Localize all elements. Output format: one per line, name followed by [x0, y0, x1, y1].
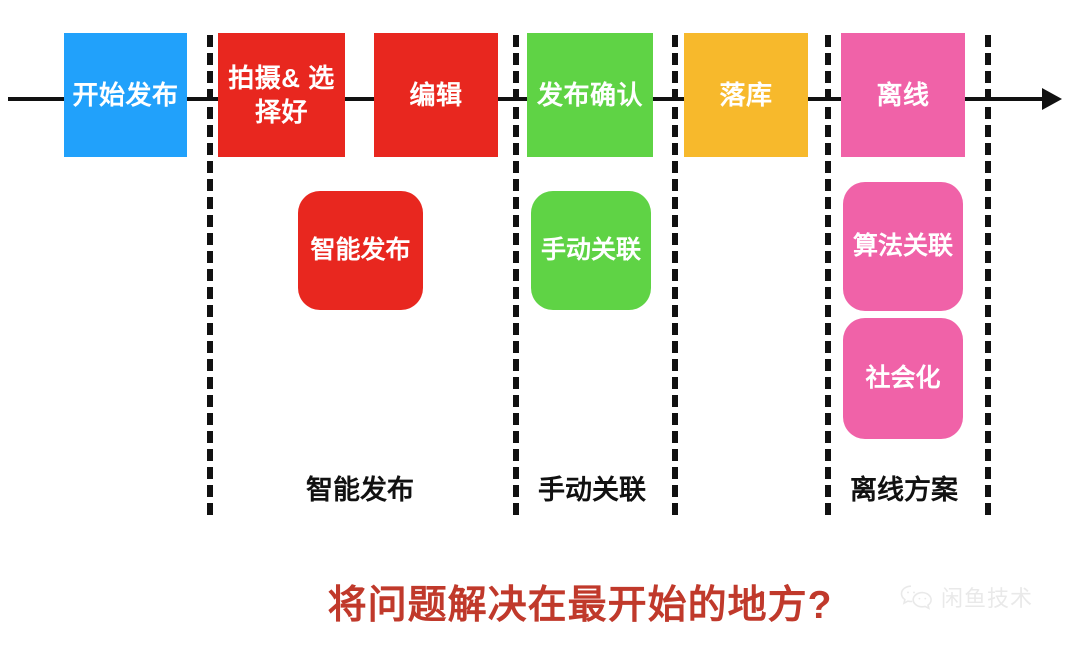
zone-divider-2	[513, 35, 519, 515]
stage-box-persist-db[interactable]: 落库	[684, 33, 808, 157]
stage-box-edit[interactable]: 编辑	[374, 33, 498, 157]
zone-label-smart-publish: 智能发布	[260, 468, 460, 507]
zone-label-offline-solution: 离线方案	[834, 468, 974, 507]
sub-box-algorithm-association[interactable]: 算法关联	[843, 182, 963, 311]
flow-arrow-head	[1042, 88, 1062, 110]
stage-box-publish-confirm[interactable]: 发布确认	[527, 33, 653, 157]
flow-diagram-canvas: 开始发布 拍摄& 选 择好 编辑 发布确认 落库 离线 智能发布 手动关联 算法…	[0, 0, 1080, 646]
zone-divider-4	[825, 35, 831, 515]
stage-box-capture-select[interactable]: 拍摄& 选 择好	[218, 33, 345, 157]
stage-box-start-publish[interactable]: 开始发布	[64, 33, 187, 157]
watermark-label: 闲鱼技术	[941, 581, 1033, 613]
sub-box-socialization[interactable]: 社会化	[843, 318, 963, 439]
wechat-bubbles-icon	[900, 584, 934, 611]
zone-divider-1	[207, 35, 213, 515]
headline-question: 将问题解决在最开始的地方?	[280, 574, 880, 630]
zone-divider-3	[672, 35, 678, 515]
stage-box-offline[interactable]: 离线	[841, 33, 965, 157]
zone-divider-5	[985, 35, 991, 515]
watermark: 闲鱼技术	[900, 581, 1033, 613]
zone-label-manual-association: 手动关联	[522, 468, 662, 507]
sub-box-smart-publish[interactable]: 智能发布	[298, 191, 423, 310]
sub-box-manual-association[interactable]: 手动关联	[531, 191, 651, 310]
